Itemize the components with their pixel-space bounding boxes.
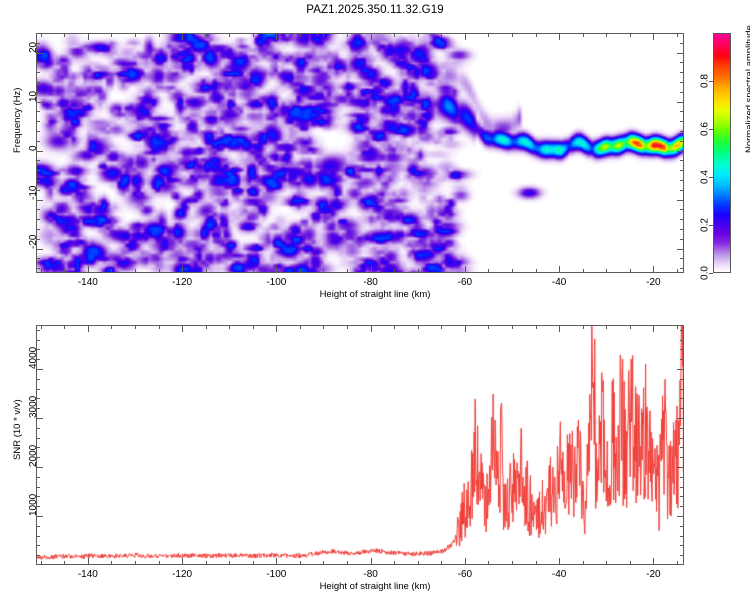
colorbar-tick-1: 0.2: [700, 218, 711, 232]
colorbar-tick-0: 0.0: [700, 266, 711, 280]
figure-root: PAZ1.2025.350.11.32.G19 -140-120-100-80-…: [0, 0, 750, 600]
spectrogram-x-axis-label: Height of straight line (km): [0, 289, 750, 300]
spectrogram-xtick-2: -100: [260, 277, 292, 288]
spectrogram-xtick-5: -40: [543, 277, 575, 288]
snr-xtick-3: -80: [355, 569, 387, 580]
spectrogram-y-axis-label: Frequency (Hz): [12, 88, 23, 153]
colorbar-tick-4: 0.8: [700, 74, 711, 88]
snr-xtick-1: -120: [166, 569, 198, 580]
spectrogram-xtick-1: -120: [166, 277, 198, 288]
snr-y-axis-label: SNR (10 * v/v): [12, 399, 23, 460]
snr-panel: [36, 325, 684, 565]
spectrogram-panel: [36, 33, 684, 273]
spectrogram-xtick-0: -140: [72, 277, 104, 288]
snr-xtick-6: -20: [637, 569, 669, 580]
figure-title: PAZ1.2025.350.11.32.G19: [0, 4, 750, 16]
snr-x-axis-label: Height of straight line (km): [0, 581, 750, 592]
colorbar-label: Normalized spectral amplitude: [744, 25, 750, 153]
spectrogram-xtick-3: -80: [355, 277, 387, 288]
colorbar-tick-3: 0.6: [700, 122, 711, 136]
spectrogram-canvas: [37, 34, 684, 273]
snr-xtick-4: -60: [449, 569, 481, 580]
snr-xtick-5: -40: [543, 569, 575, 580]
colorbar-tick-2: 0.4: [700, 170, 711, 184]
colorbar-gradient: [713, 33, 731, 273]
spectrogram-xtick-6: -20: [637, 277, 669, 288]
snr-xtick-2: -100: [260, 569, 292, 580]
snr-xtick-0: -140: [72, 569, 104, 580]
spectrogram-xtick-4: -60: [449, 277, 481, 288]
snr-canvas: [37, 326, 684, 565]
